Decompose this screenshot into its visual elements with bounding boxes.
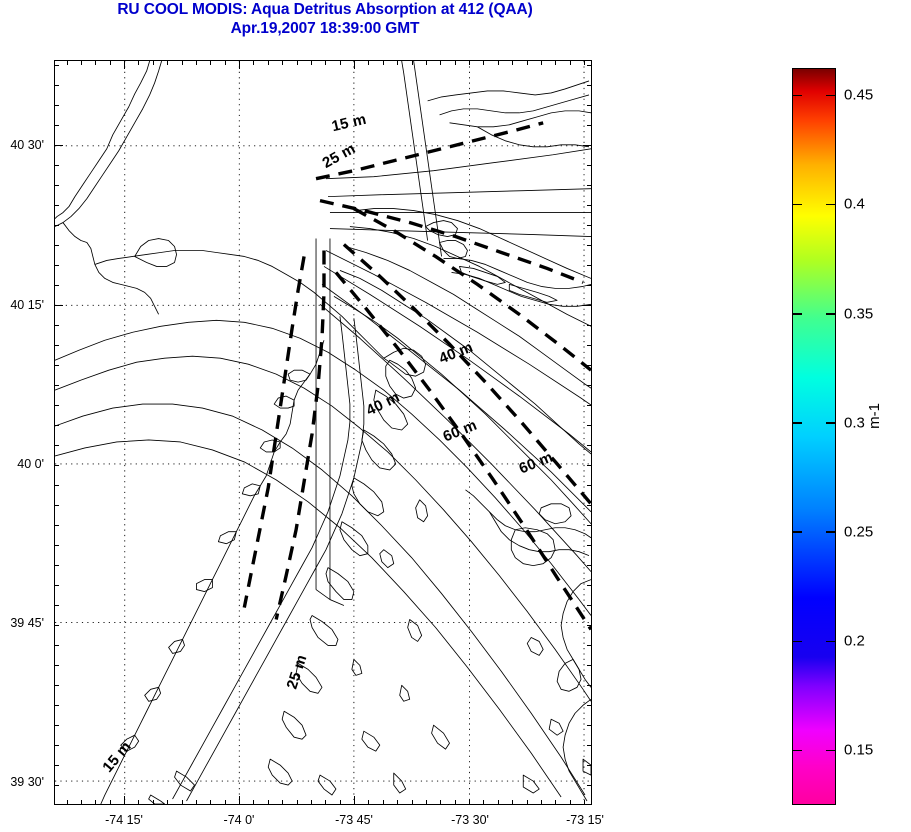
x-axis-tick: [225, 800, 226, 805]
x-axis-tick: [512, 800, 513, 805]
y-axis-tick: [54, 645, 59, 646]
x-axis-tick: [325, 60, 326, 65]
y-axis-tick: [54, 85, 59, 86]
y-axis-tick: [54, 665, 59, 666]
x-axis-tick-label: -73 30': [451, 813, 489, 827]
colorbar-tick: [793, 531, 802, 533]
y-axis-tick-label: 39 45': [0, 616, 44, 630]
y-axis-tick: [587, 425, 592, 426]
x-axis-tick: [138, 800, 139, 805]
y-axis-tick: [587, 685, 592, 686]
colorbar-gradient[interactable]: [792, 68, 836, 805]
x-axis-tick: [239, 796, 240, 805]
x-axis-tick: [498, 800, 499, 805]
y-axis-tick: [54, 565, 59, 566]
x-axis-tick: [67, 60, 68, 65]
colorbar-tick-label: 0.4: [844, 196, 865, 213]
x-axis-tick: [182, 60, 183, 65]
x-axis-tick: [527, 800, 528, 805]
x-axis-tick: [311, 60, 312, 65]
x-axis-tick: [340, 60, 341, 65]
x-axis-tick: [268, 60, 269, 65]
y-axis-tick: [54, 145, 63, 146]
x-axis-tick: [210, 60, 211, 65]
y-axis-tick: [587, 485, 592, 486]
colorbar-tick: [793, 641, 802, 643]
colorbar-tick-label: 0.15: [844, 742, 873, 759]
colorbar-tick: [793, 204, 802, 206]
y-axis-tick: [54, 185, 59, 186]
x-axis-tick: [196, 800, 197, 805]
colorbar-tick: [826, 204, 835, 206]
x-axis-tick: [455, 60, 456, 65]
y-axis-tick-label: 40 15': [0, 298, 44, 312]
y-axis-tick: [587, 525, 592, 526]
x-axis-tick: [282, 800, 283, 805]
y-axis-tick: [587, 345, 592, 346]
x-axis-tick: [138, 60, 139, 65]
y-axis-tick: [587, 585, 592, 586]
y-axis-tick: [54, 625, 59, 626]
x-axis-tick: [440, 800, 441, 805]
y-axis-tick: [54, 105, 59, 106]
x-axis-tick: [469, 60, 470, 65]
x-axis-tick: [383, 60, 384, 65]
x-axis-tick: [397, 800, 398, 805]
y-axis-tick: [54, 365, 59, 366]
x-axis-tick: [153, 60, 154, 65]
x-axis-tick: [253, 800, 254, 805]
y-axis-tick: [587, 785, 592, 786]
y-axis-tick: [587, 745, 592, 746]
y-axis-tick: [54, 785, 59, 786]
y-axis-tick: [587, 625, 592, 626]
y-axis-tick-label: 39 30': [0, 775, 44, 789]
x-axis-tick: [483, 60, 484, 65]
x-axis-tick: [426, 800, 427, 805]
x-axis-tick: [239, 60, 240, 69]
y-axis-tick-label: 40 0': [0, 457, 44, 471]
colorbar-tick: [826, 422, 835, 424]
y-axis-tick: [54, 585, 59, 586]
y-axis-tick: [54, 765, 59, 766]
x-axis-tick: [210, 800, 211, 805]
x-axis-tick: [555, 60, 556, 65]
colorbar-tick: [826, 95, 835, 97]
bathymetry-dashed-contours: [244, 123, 591, 630]
y-axis-tick: [54, 705, 59, 706]
x-axis-tick: [570, 60, 571, 65]
x-axis-tick: [110, 800, 111, 805]
x-axis-tick: [282, 60, 283, 65]
y-axis-tick: [54, 465, 59, 466]
x-axis-tick: [397, 60, 398, 65]
page-subtitle: Apr.19,2007 18:39:00 GMT: [0, 18, 650, 37]
x-axis-tick: [354, 796, 355, 805]
y-axis-tick: [54, 285, 59, 286]
colorbar-tick-label: 0.3: [844, 414, 865, 431]
y-axis-tick: [54, 545, 59, 546]
x-axis-tick: [325, 800, 326, 805]
y-axis-tick: [54, 405, 59, 406]
x-axis-tick: [412, 800, 413, 805]
y-axis-tick: [587, 245, 592, 246]
x-axis-tick: [196, 60, 197, 65]
y-axis-tick: [54, 245, 59, 246]
y-axis-tick: [54, 205, 59, 206]
x-axis-tick: [584, 800, 585, 805]
y-axis-tick: [583, 145, 592, 146]
colorbar-tick: [826, 750, 835, 752]
colorbar-tick: [826, 313, 835, 315]
x-axis-tick: [368, 800, 369, 805]
page-title: RU COOL MODIS: Aqua Detritus Absorption …: [0, 0, 650, 18]
x-axis-tick: [555, 800, 556, 805]
y-axis-tick: [54, 345, 59, 346]
x-axis-tick: [225, 60, 226, 65]
y-axis-tick: [54, 65, 59, 66]
y-axis-tick: [54, 485, 59, 486]
y-axis-tick: [54, 425, 59, 426]
x-axis-tick: [440, 60, 441, 65]
y-axis-tick: [587, 265, 592, 266]
y-axis-tick: [587, 125, 592, 126]
y-axis-tick: [587, 165, 592, 166]
colorbar-tick: [826, 531, 835, 533]
x-axis-tick: [110, 60, 111, 65]
y-axis-tick: [587, 445, 592, 446]
x-axis-tick-label: -74 15': [105, 813, 143, 827]
y-axis-tick: [587, 765, 592, 766]
y-axis-tick: [587, 725, 592, 726]
y-axis-tick: [54, 265, 59, 266]
y-axis-tick: [587, 85, 592, 86]
colorbar-tick: [793, 422, 802, 424]
x-axis-tick: [340, 800, 341, 805]
y-axis-tick: [54, 505, 59, 506]
y-axis-tick: [587, 205, 592, 206]
y-axis-tick: [587, 105, 592, 106]
y-axis-tick: [587, 225, 592, 226]
x-axis-tick: [311, 800, 312, 805]
colorbar-container[interactable]: [792, 68, 836, 805]
y-axis-tick: [54, 685, 59, 686]
x-axis-tick: [368, 60, 369, 65]
y-axis-tick: [587, 285, 592, 286]
x-axis-tick: [469, 800, 470, 805]
y-axis-tick: [54, 605, 59, 606]
x-axis-tick: [167, 800, 168, 805]
x-axis-tick: [498, 60, 499, 65]
x-axis-tick: [124, 796, 125, 805]
y-axis-tick: [583, 305, 592, 306]
x-axis-tick: [541, 60, 542, 65]
x-axis-tick: [297, 800, 298, 805]
x-axis-tick: [95, 800, 96, 805]
x-axis-tick: [354, 60, 355, 69]
x-axis-tick: [412, 60, 413, 65]
x-axis-tick: [584, 60, 585, 65]
x-axis-tick: [253, 60, 254, 65]
y-axis-tick: [587, 65, 592, 66]
y-axis-tick: [587, 605, 592, 606]
coastline-paths: [55, 61, 591, 804]
map-plot-area[interactable]: [54, 60, 592, 805]
y-axis-tick: [54, 725, 59, 726]
colorbar-unit-label: m-1: [866, 403, 883, 429]
y-axis-tick: [587, 325, 592, 326]
colorbar-tick-label: 0.35: [844, 305, 873, 322]
x-axis-tick: [383, 800, 384, 805]
y-axis-tick: [587, 405, 592, 406]
y-axis-tick: [587, 505, 592, 506]
y-axis-tick: [54, 305, 63, 306]
colorbar-tick-label: 0.45: [844, 87, 873, 104]
x-axis-tick-label: -73 45': [335, 813, 373, 827]
x-axis-tick: [297, 60, 298, 65]
x-axis-tick: [570, 800, 571, 805]
colorbar-tick-label: 0.2: [844, 633, 865, 650]
y-axis-tick: [54, 745, 59, 746]
x-axis-tick: [81, 60, 82, 65]
x-axis-tick: [455, 800, 456, 805]
y-axis-tick: [54, 325, 59, 326]
x-axis-tick: [67, 800, 68, 805]
y-axis-tick: [54, 385, 59, 386]
y-axis-tick: [587, 705, 592, 706]
x-axis-tick: [512, 60, 513, 65]
x-axis-tick: [124, 60, 125, 69]
y-axis-tick: [54, 125, 59, 126]
chart-title-block: RU COOL MODIS: Aqua Detritus Absorption …: [0, 0, 650, 38]
map-graphics: [55, 61, 591, 804]
colorbar-tick: [793, 95, 802, 97]
x-axis-tick: [153, 800, 154, 805]
y-axis-tick: [54, 165, 59, 166]
y-axis-tick: [587, 545, 592, 546]
y-axis-tick: [587, 665, 592, 666]
x-axis-tick: [541, 800, 542, 805]
y-axis-tick: [54, 525, 59, 526]
x-axis-tick-label: -74 0': [224, 813, 255, 827]
x-axis-tick: [182, 800, 183, 805]
x-axis-tick: [268, 800, 269, 805]
colorbar-tick: [793, 750, 802, 752]
y-axis-tick: [587, 645, 592, 646]
y-axis-tick: [587, 565, 592, 566]
y-axis-tick: [587, 385, 592, 386]
x-axis-tick: [95, 60, 96, 65]
y-axis-tick: [54, 445, 59, 446]
x-axis-tick-label: -73 15': [566, 813, 604, 827]
y-axis-tick: [587, 365, 592, 366]
x-axis-tick: [527, 60, 528, 65]
y-axis-tick-label: 40 30': [0, 138, 44, 152]
x-axis-tick: [426, 60, 427, 65]
colorbar-tick: [826, 641, 835, 643]
y-axis-tick: [587, 185, 592, 186]
y-axis-tick: [587, 465, 592, 466]
colorbar-tick: [793, 313, 802, 315]
colorbar-tick-label: 0.25: [844, 524, 873, 541]
x-axis-tick: [167, 60, 168, 65]
x-axis-tick: [483, 800, 484, 805]
graticule-grid: [55, 61, 591, 804]
x-axis-tick: [81, 800, 82, 805]
y-axis-tick: [54, 225, 59, 226]
